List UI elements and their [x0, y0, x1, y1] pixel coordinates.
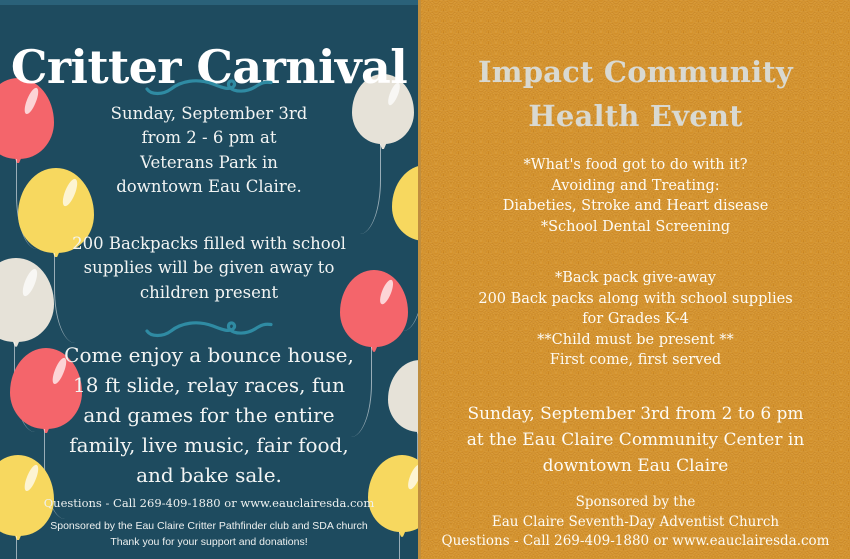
- top-accent-strip: [0, 0, 418, 5]
- flourish-divider-bottom: [137, 314, 282, 340]
- left-credit-block: Sponsored by the Eau Claire Critter Path…: [0, 518, 418, 551]
- event-details-line: Sunday, September 3rd: [0, 102, 418, 126]
- right-panel-title-line: Health Event: [421, 94, 850, 138]
- sponsor-contact-line[interactable]: Questions - Call 269-409-1880 or www.eau…: [421, 532, 850, 552]
- health-topics-block: *What's food got to do with it? Avoiding…: [421, 155, 850, 237]
- backpack-giveaway-line: supplies will be given away to: [0, 256, 418, 280]
- impact-health-event-panel: Impact Community Health Event *What's fo…: [421, 0, 850, 559]
- left-contact-line[interactable]: Questions - Call 269-409-1880 or www.eau…: [0, 495, 418, 512]
- backpack-details-line: *Back pack give-away: [421, 268, 850, 289]
- event-details-line: from 2 - 6 pm at: [0, 126, 418, 150]
- health-topics-line: *School Dental Screening: [421, 217, 850, 238]
- when-where-line: downtown Eau Claire: [421, 454, 850, 480]
- health-topics-line: *What's food got to do with it?: [421, 155, 850, 176]
- health-topics-line: Avoiding and Treating:: [421, 176, 850, 197]
- left-credit-line: Thank you for your support and donations…: [0, 534, 418, 550]
- event-flyer: Critter Carnival Sunday, September 3rd f…: [0, 0, 850, 559]
- when-where-line: Sunday, September 3rd from 2 to 6 pm: [421, 402, 850, 428]
- health-topics-line: Diabeties, Stroke and Heart disease: [421, 196, 850, 217]
- sponsor-line: Eau Claire Seventh-Day Adventist Church: [421, 513, 850, 533]
- right-panel-title-line: Impact Community: [421, 50, 850, 94]
- sponsor-line: Sponsored by the: [421, 493, 850, 513]
- activities-block: Come enjoy a bounce house, 18 ft slide, …: [0, 340, 418, 490]
- activities-line: and games for the entire: [0, 400, 418, 430]
- backpack-giveaway-line: children present: [0, 281, 418, 305]
- activities-line: Come enjoy a bounce house,: [0, 340, 418, 370]
- event-details-line: Veterans Park in: [0, 151, 418, 175]
- backpack-details-line: First come, first served: [421, 350, 850, 371]
- when-where-block: Sunday, September 3rd from 2 to 6 pm at …: [421, 402, 850, 479]
- activities-line: family, live music, fair food,: [0, 430, 418, 460]
- backpack-details-line: for Grades K-4: [421, 309, 850, 330]
- backpack-giveaway-block: 200 Backpacks filled with school supplie…: [0, 232, 418, 305]
- activities-line: 18 ft slide, relay races, fun: [0, 370, 418, 400]
- activities-line: and bake sale.: [0, 460, 418, 490]
- right-panel-title: Impact Community Health Event: [421, 50, 850, 138]
- backpack-details-block: *Back pack give-away 200 Back packs alon…: [421, 268, 850, 371]
- backpack-details-line: 200 Back packs along with school supplie…: [421, 289, 850, 310]
- event-details-block: Sunday, September 3rd from 2 - 6 pm at V…: [0, 102, 418, 200]
- backpack-details-line: **Child must be present **: [421, 330, 850, 351]
- when-where-line: at the Eau Claire Community Center in: [421, 428, 850, 454]
- left-credit-line: Sponsored by the Eau Claire Critter Path…: [0, 518, 418, 534]
- event-details-line: downtown Eau Claire.: [0, 175, 418, 199]
- backpack-giveaway-line: 200 Backpacks filled with school: [0, 232, 418, 256]
- flourish-divider-top: [137, 72, 282, 98]
- sponsor-block: Sponsored by the Eau Claire Seventh-Day …: [421, 493, 850, 552]
- critter-carnival-panel: Critter Carnival Sunday, September 3rd f…: [0, 0, 418, 559]
